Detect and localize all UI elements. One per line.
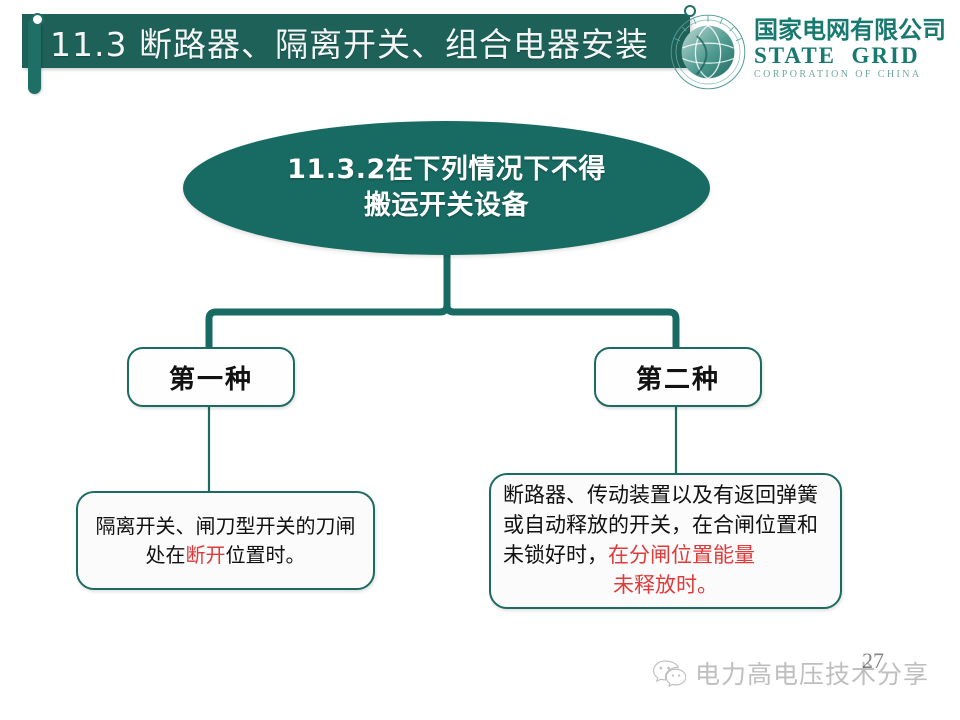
logo-company-sub: CORPORATION OF CHINA: [754, 69, 954, 80]
logo-en-state: STATE: [754, 43, 836, 68]
page-number: 27: [862, 648, 884, 674]
detail-text-second: 断路器、传动装置以及有返回弹簧或自动释放的开关，在合闸位置和未锁好时，在分闸位置…: [503, 481, 828, 600]
logo-en-grid: GRID: [852, 43, 920, 68]
watermark-text: 电力高电压技术分享: [695, 655, 929, 691]
branch-label-second: 第二种: [636, 359, 720, 396]
branch-box-second[interactable]: 第二种: [594, 347, 762, 407]
watermark: 电力高电压技术分享: [652, 655, 929, 691]
header-pin-decoration: [28, 18, 41, 94]
state-grid-globe-icon: [668, 12, 748, 92]
root-label-line1: 11.3.2在下列情况下不得: [287, 154, 606, 185]
detail-box-second[interactable]: 断路器、传动装置以及有返回弹簧或自动释放的开关，在合闸位置和未锁好时，在分闸位置…: [489, 473, 842, 609]
wechat-icon: [652, 659, 686, 687]
detail-text-first: 隔离开关、闸刀型开关的刀闸处在断开位置时。: [90, 512, 361, 569]
logo-company-en: STATE GRID: [754, 43, 954, 68]
detail-box-first[interactable]: 隔离开关、闸刀型开关的刀闸处在断开位置时。: [76, 491, 375, 590]
root-node-label: 11.3.2在下列情况下不得 搬运开关设备: [287, 152, 606, 223]
logo-text-block: 国家电网有限公司 STATE GRID CORPORATION OF CHINA: [754, 18, 954, 80]
root-label-line2: 搬运开关设备: [364, 190, 529, 221]
header-pin-dot-icon: [31, 13, 44, 26]
detail-second-highlight: 在分闸位置能量: [608, 543, 755, 567]
page-title: 11.3 断路器、隔离开关、组合电器安装: [50, 14, 700, 70]
detail-first-part3: 位置时。: [226, 543, 306, 567]
detail-first-highlight: 断开: [186, 543, 226, 567]
branch-box-first[interactable]: 第一种: [127, 347, 295, 407]
logo-company-cn: 国家电网有限公司: [754, 18, 954, 43]
slide-canvas: 11.3 断路器、隔离开关、组合电器安装: [0, 0, 960, 720]
branch-label-first: 第一种: [169, 359, 253, 396]
state-grid-logo: 国家电网有限公司 STATE GRID CORPORATION OF CHINA: [668, 10, 953, 98]
root-node-ellipse[interactable]: 11.3.2在下列情况下不得 搬运开关设备: [183, 121, 710, 255]
detail-second-highlight-tail: 未释放时。: [503, 571, 828, 601]
